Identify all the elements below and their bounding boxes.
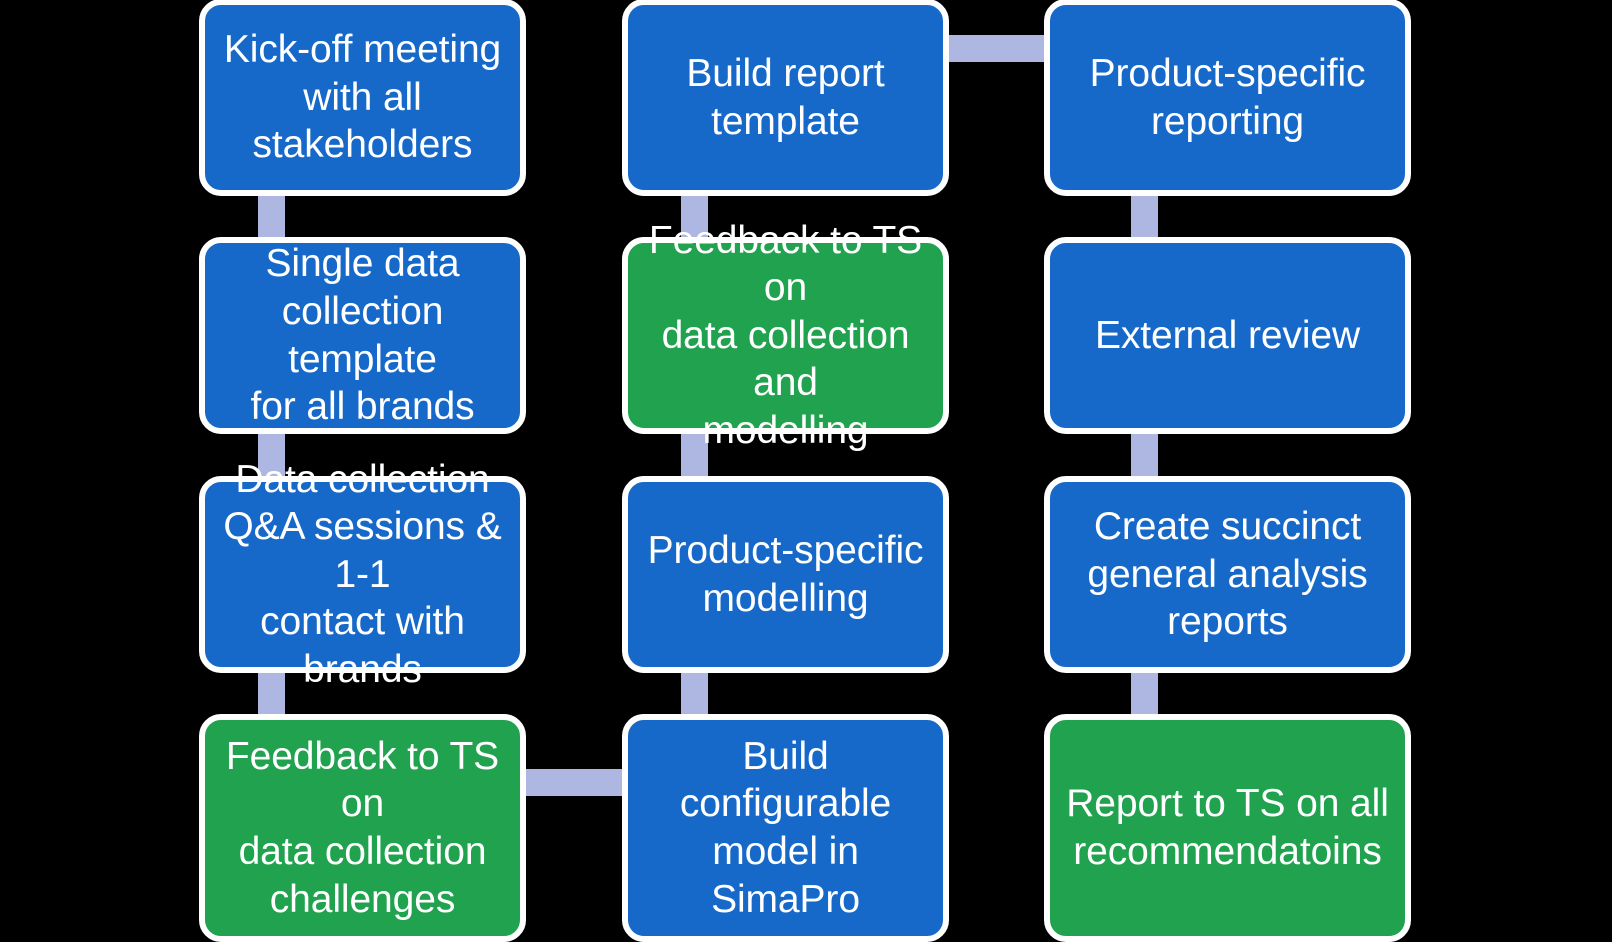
connector-col3-row1-row2 <box>1131 190 1158 242</box>
node-feedback-data-collection-modelling[interactable]: Feedback to TS on data collection and mo… <box>622 237 949 434</box>
flowchart-canvas: Kick-off meeting with all stakeholders B… <box>0 0 1612 936</box>
node-create-succinct-general-analysis-reports[interactable]: Create succinct general analysis reports <box>1044 476 1411 673</box>
node-product-specific-reporting[interactable]: Product-specific reporting <box>1044 0 1411 196</box>
node-single-data-collection-template[interactable]: Single data collection template for all … <box>199 237 526 434</box>
connector-col1-row1-row2 <box>258 190 285 242</box>
node-report-to-ts-recommendations[interactable]: Report to TS on all recommendatoins <box>1044 714 1411 942</box>
node-product-specific-modelling[interactable]: Product-specific modelling <box>622 476 949 673</box>
connector-col2-row3-row4 <box>681 667 708 719</box>
node-data-collection-qa-sessions[interactable]: Data collection Q&A sessions & 1-1 conta… <box>199 476 526 673</box>
connector-col3-row3-row4 <box>1131 667 1158 719</box>
connector-col3-row2-row3 <box>1131 428 1158 480</box>
node-build-report-template[interactable]: Build report template <box>622 0 949 196</box>
node-external-review[interactable]: External review <box>1044 237 1411 434</box>
node-build-configurable-model-simapro[interactable]: Build configurable model in SimaPro <box>622 714 949 942</box>
connector-row4-col1-col2 <box>521 769 628 796</box>
connector-row1-col2-col3 <box>941 35 1051 62</box>
node-kick-off-meeting[interactable]: Kick-off meeting with all stakeholders <box>199 0 526 196</box>
node-feedback-data-collection-challenges[interactable]: Feedback to TS on data collection challe… <box>199 714 526 942</box>
